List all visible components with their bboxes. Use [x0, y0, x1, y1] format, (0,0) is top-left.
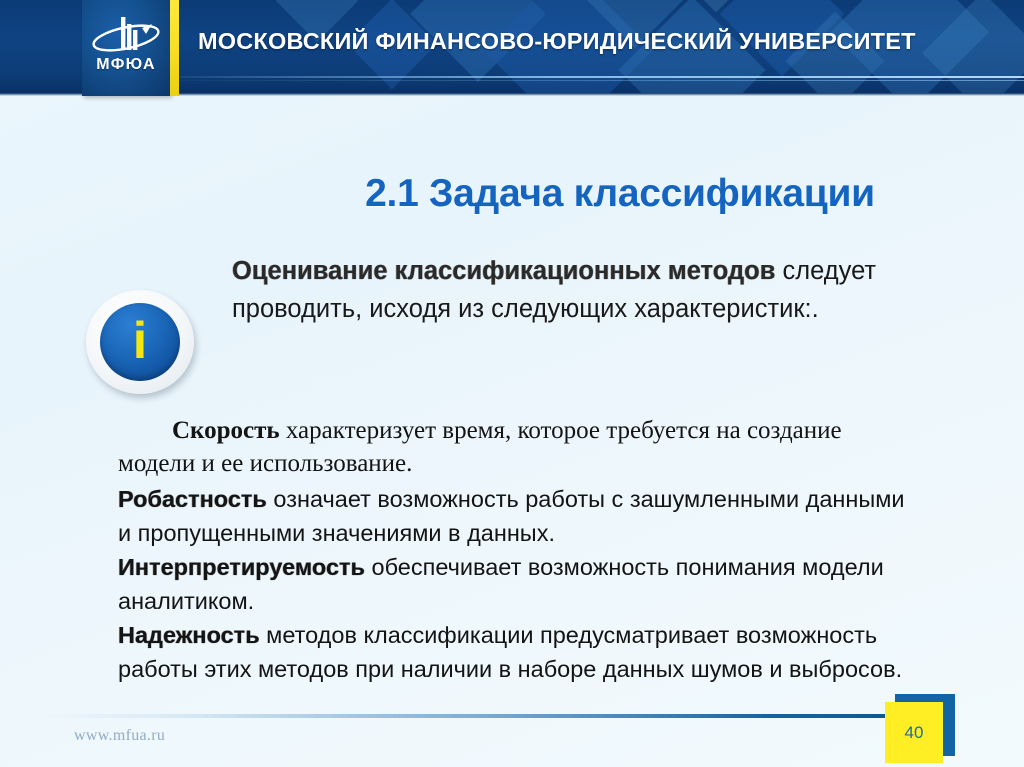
term-speed: Скорость	[172, 417, 280, 444]
paragraph-robustness: Робастность означает возможность работы …	[118, 482, 918, 550]
page-title: 2.1 Задача классификации	[260, 172, 980, 216]
info-icon-letter: i	[100, 303, 180, 381]
header-title: МОСКОВСКИЙ ФИНАНСОВО-ЮРИДИЧЕСКИЙ УНИВЕРС…	[198, 28, 916, 55]
term-interpretability: Интерпретируемость	[118, 554, 365, 580]
info-icon: i	[86, 290, 198, 398]
intro-paragraph: Оценивание классификационных методов сле…	[232, 252, 932, 328]
university-logo: МФЮА	[82, 0, 170, 96]
slide-header: МФЮА МОСКОВСКИЙ ФИНАНСОВО-ЮРИДИЧЕСКИЙ УН…	[0, 0, 1024, 96]
header-hairline	[180, 76, 1024, 78]
body-content: Скорость характеризует время, которое тр…	[118, 414, 918, 686]
paragraph-speed: Скорость характеризует время, которое тр…	[118, 414, 918, 480]
logo-text: МФЮА	[82, 56, 170, 74]
header-hairline-secondary	[180, 80, 1024, 81]
slide: МФЮА МОСКОВСКИЙ ФИНАНСОВО-ЮРИДИЧЕСКИЙ УН…	[0, 0, 1024, 767]
paragraph-reliability: Надежность методов классификации предусм…	[118, 618, 918, 686]
logo-accent-stripe	[170, 0, 179, 96]
intro-lead-phrase: Оценивание классификационных методов	[232, 257, 775, 285]
footer-url: www.mfua.ru	[74, 727, 165, 745]
paragraph-interpretability: Интерпретируемость обеспечивает возможно…	[118, 550, 918, 618]
footer-divider	[40, 714, 900, 718]
term-reliability: Надежность	[118, 622, 260, 648]
term-robustness: Робастность	[118, 486, 267, 512]
page-number: 40	[885, 702, 943, 763]
mfua-emblem-icon	[90, 14, 162, 56]
